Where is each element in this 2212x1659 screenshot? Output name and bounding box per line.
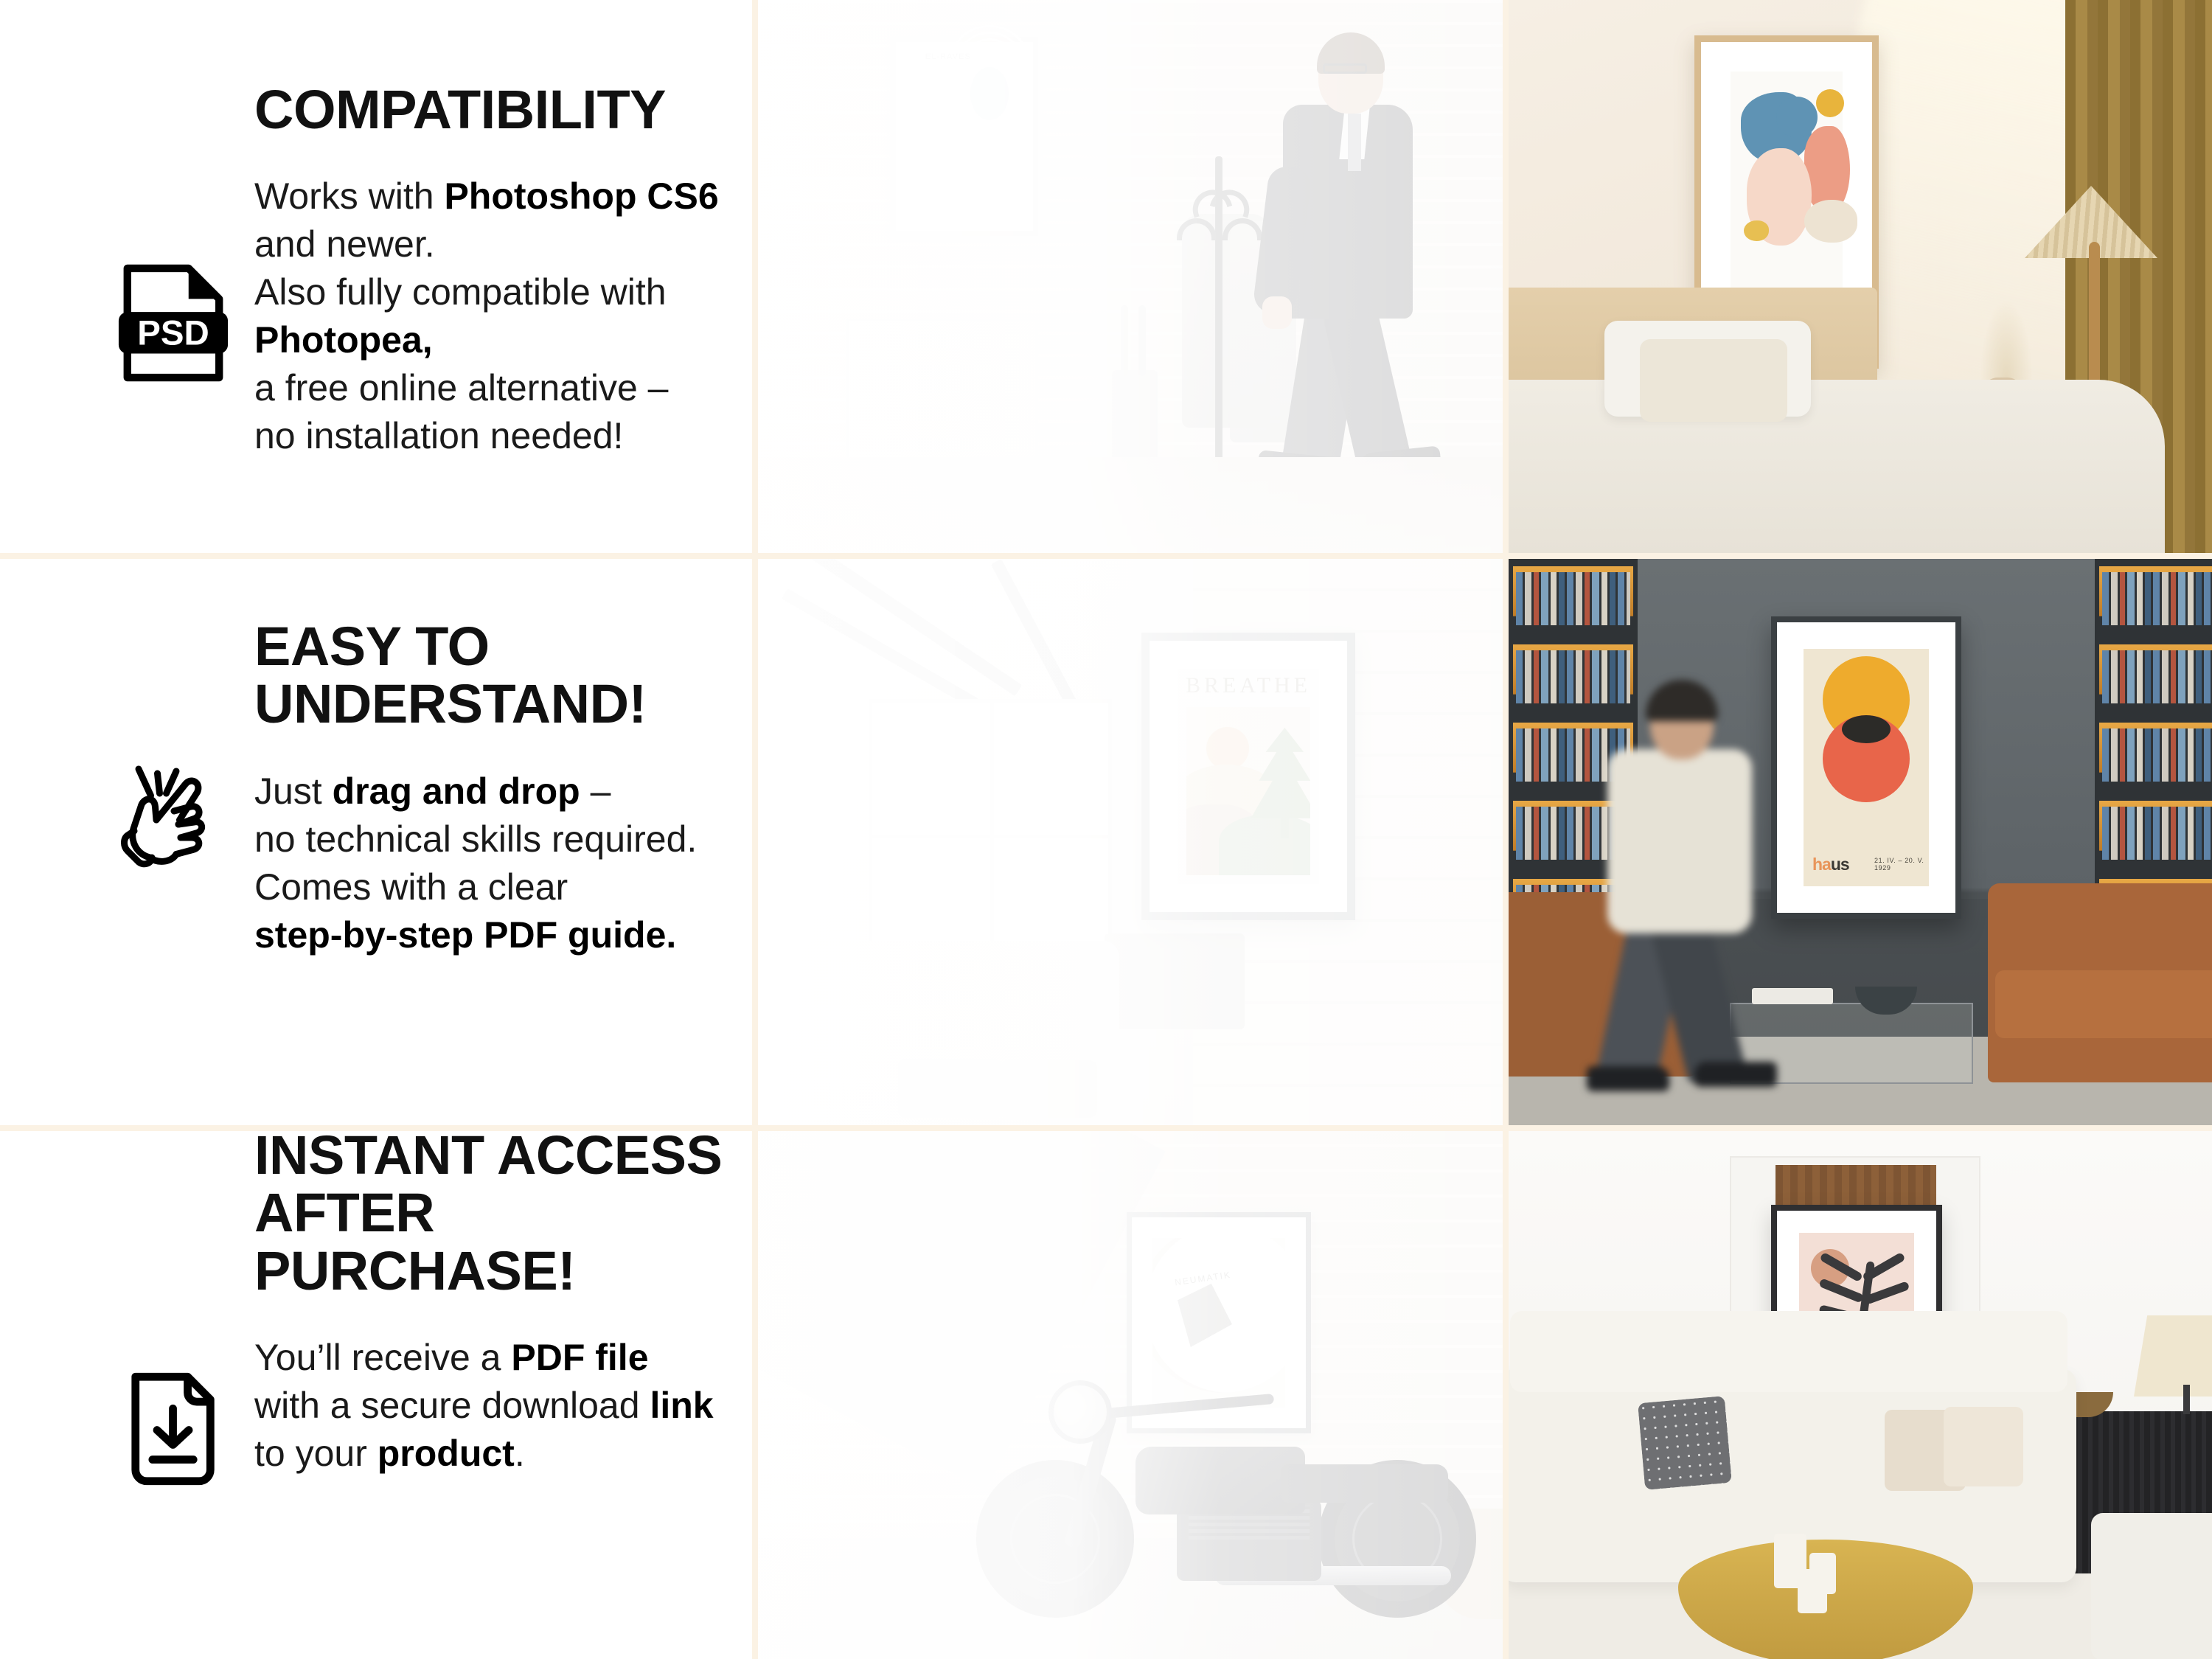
text-column: COMPATIBILITY PSD Works with Photoshop C… bbox=[0, 0, 759, 1659]
body-line: Just drag and drop – bbox=[254, 768, 759, 815]
body-line: Works with Photoshop CS6 bbox=[254, 173, 759, 220]
photo-garage: NEUMATIK bbox=[758, 1131, 1503, 1659]
leather-armchair-right bbox=[1988, 883, 2212, 1082]
poster-frame-breathe: BREATHE bbox=[1141, 633, 1355, 920]
section-body-instant: You’ll receive a PDF filewith a secure d… bbox=[254, 1334, 759, 1478]
poster-dates-haus: 21. IV. – 20. V. 1929 bbox=[1874, 857, 1929, 872]
photo-livingroom bbox=[1509, 1131, 2212, 1659]
body-line: and newer. bbox=[254, 220, 759, 268]
section-heading-easy: EASY TO UNDERSTAND! bbox=[254, 618, 759, 734]
promo-graphic: EL-RAVES bbox=[0, 0, 2212, 1659]
section-heading-instant: INSTANT ACCESSAFTER PURCHASE! bbox=[254, 1127, 759, 1300]
cushion bbox=[1640, 339, 1787, 422]
section-heading-compatibility: COMPATIBILITY bbox=[254, 81, 759, 139]
body-line: Comes with a clear bbox=[254, 863, 759, 911]
body-line: step-by-step PDF guide. bbox=[254, 911, 759, 959]
body-line: a free online alternative – bbox=[254, 364, 759, 412]
armchair bbox=[2091, 1513, 2212, 1659]
photo-hallway: EL-RAVES bbox=[758, 0, 1503, 553]
fireplace bbox=[1105, 933, 1245, 1029]
walking-man-blurred bbox=[1590, 686, 1789, 1099]
body-line: with a secure download link bbox=[254, 1382, 759, 1430]
coat-rack bbox=[1215, 156, 1222, 466]
umbrella-stand bbox=[1112, 370, 1158, 466]
snap-fingers-hand-icon bbox=[116, 762, 227, 873]
section-instant-access: INSTANT ACCESSAFTER PURCHASE! You’ll rec… bbox=[0, 1127, 759, 1478]
poster-frame-elraves: EL-RAVES bbox=[891, 37, 1038, 236]
poster-frame-haus: haus 21. IV. – 20. V. 1929 bbox=[1771, 616, 1961, 919]
body-line: no installation needed! bbox=[254, 412, 759, 460]
poster-label-elraves: EL-RAVES bbox=[925, 52, 971, 61]
poster-title-haus: haus bbox=[1812, 855, 1849, 874]
motorcycle bbox=[972, 1374, 1481, 1618]
section-body-easy: Just drag and drop –no technical skills … bbox=[254, 768, 759, 959]
table-lamp-shade bbox=[2134, 1315, 2212, 1397]
body-line: You’ll receive a PDF file bbox=[254, 1334, 759, 1382]
walking-businessman bbox=[1230, 37, 1444, 479]
body-line: Also fully compatible with Photopea, bbox=[254, 268, 759, 364]
body-line: to your product. bbox=[254, 1430, 759, 1478]
body-line: no technical skills required. bbox=[254, 815, 759, 863]
section-body-compatibility: Works with Photoshop CS6and newer.Also f… bbox=[254, 173, 759, 460]
beige-pillow-2 bbox=[1944, 1407, 2023, 1486]
cabinet bbox=[846, 319, 1038, 466]
photo-bedroom bbox=[1509, 0, 2212, 553]
psd-file-icon: PSD bbox=[118, 264, 229, 382]
poster-title-breathe: BREATHE bbox=[1178, 673, 1319, 698]
photo-library: haus 21. IV. – 20. V. 1929 bbox=[1509, 559, 2212, 1125]
section-compatibility: COMPATIBILITY PSD Works with Photoshop C… bbox=[0, 81, 759, 460]
gray-dotted-pillow bbox=[1638, 1396, 1732, 1490]
svg-text:PSD: PSD bbox=[137, 314, 209, 353]
download-file-icon bbox=[124, 1370, 220, 1488]
photo-loft: BREATHE bbox=[758, 559, 1503, 1125]
section-easy-to-understand: EASY TO UNDERSTAND! Just drag and dr bbox=[0, 618, 759, 959]
